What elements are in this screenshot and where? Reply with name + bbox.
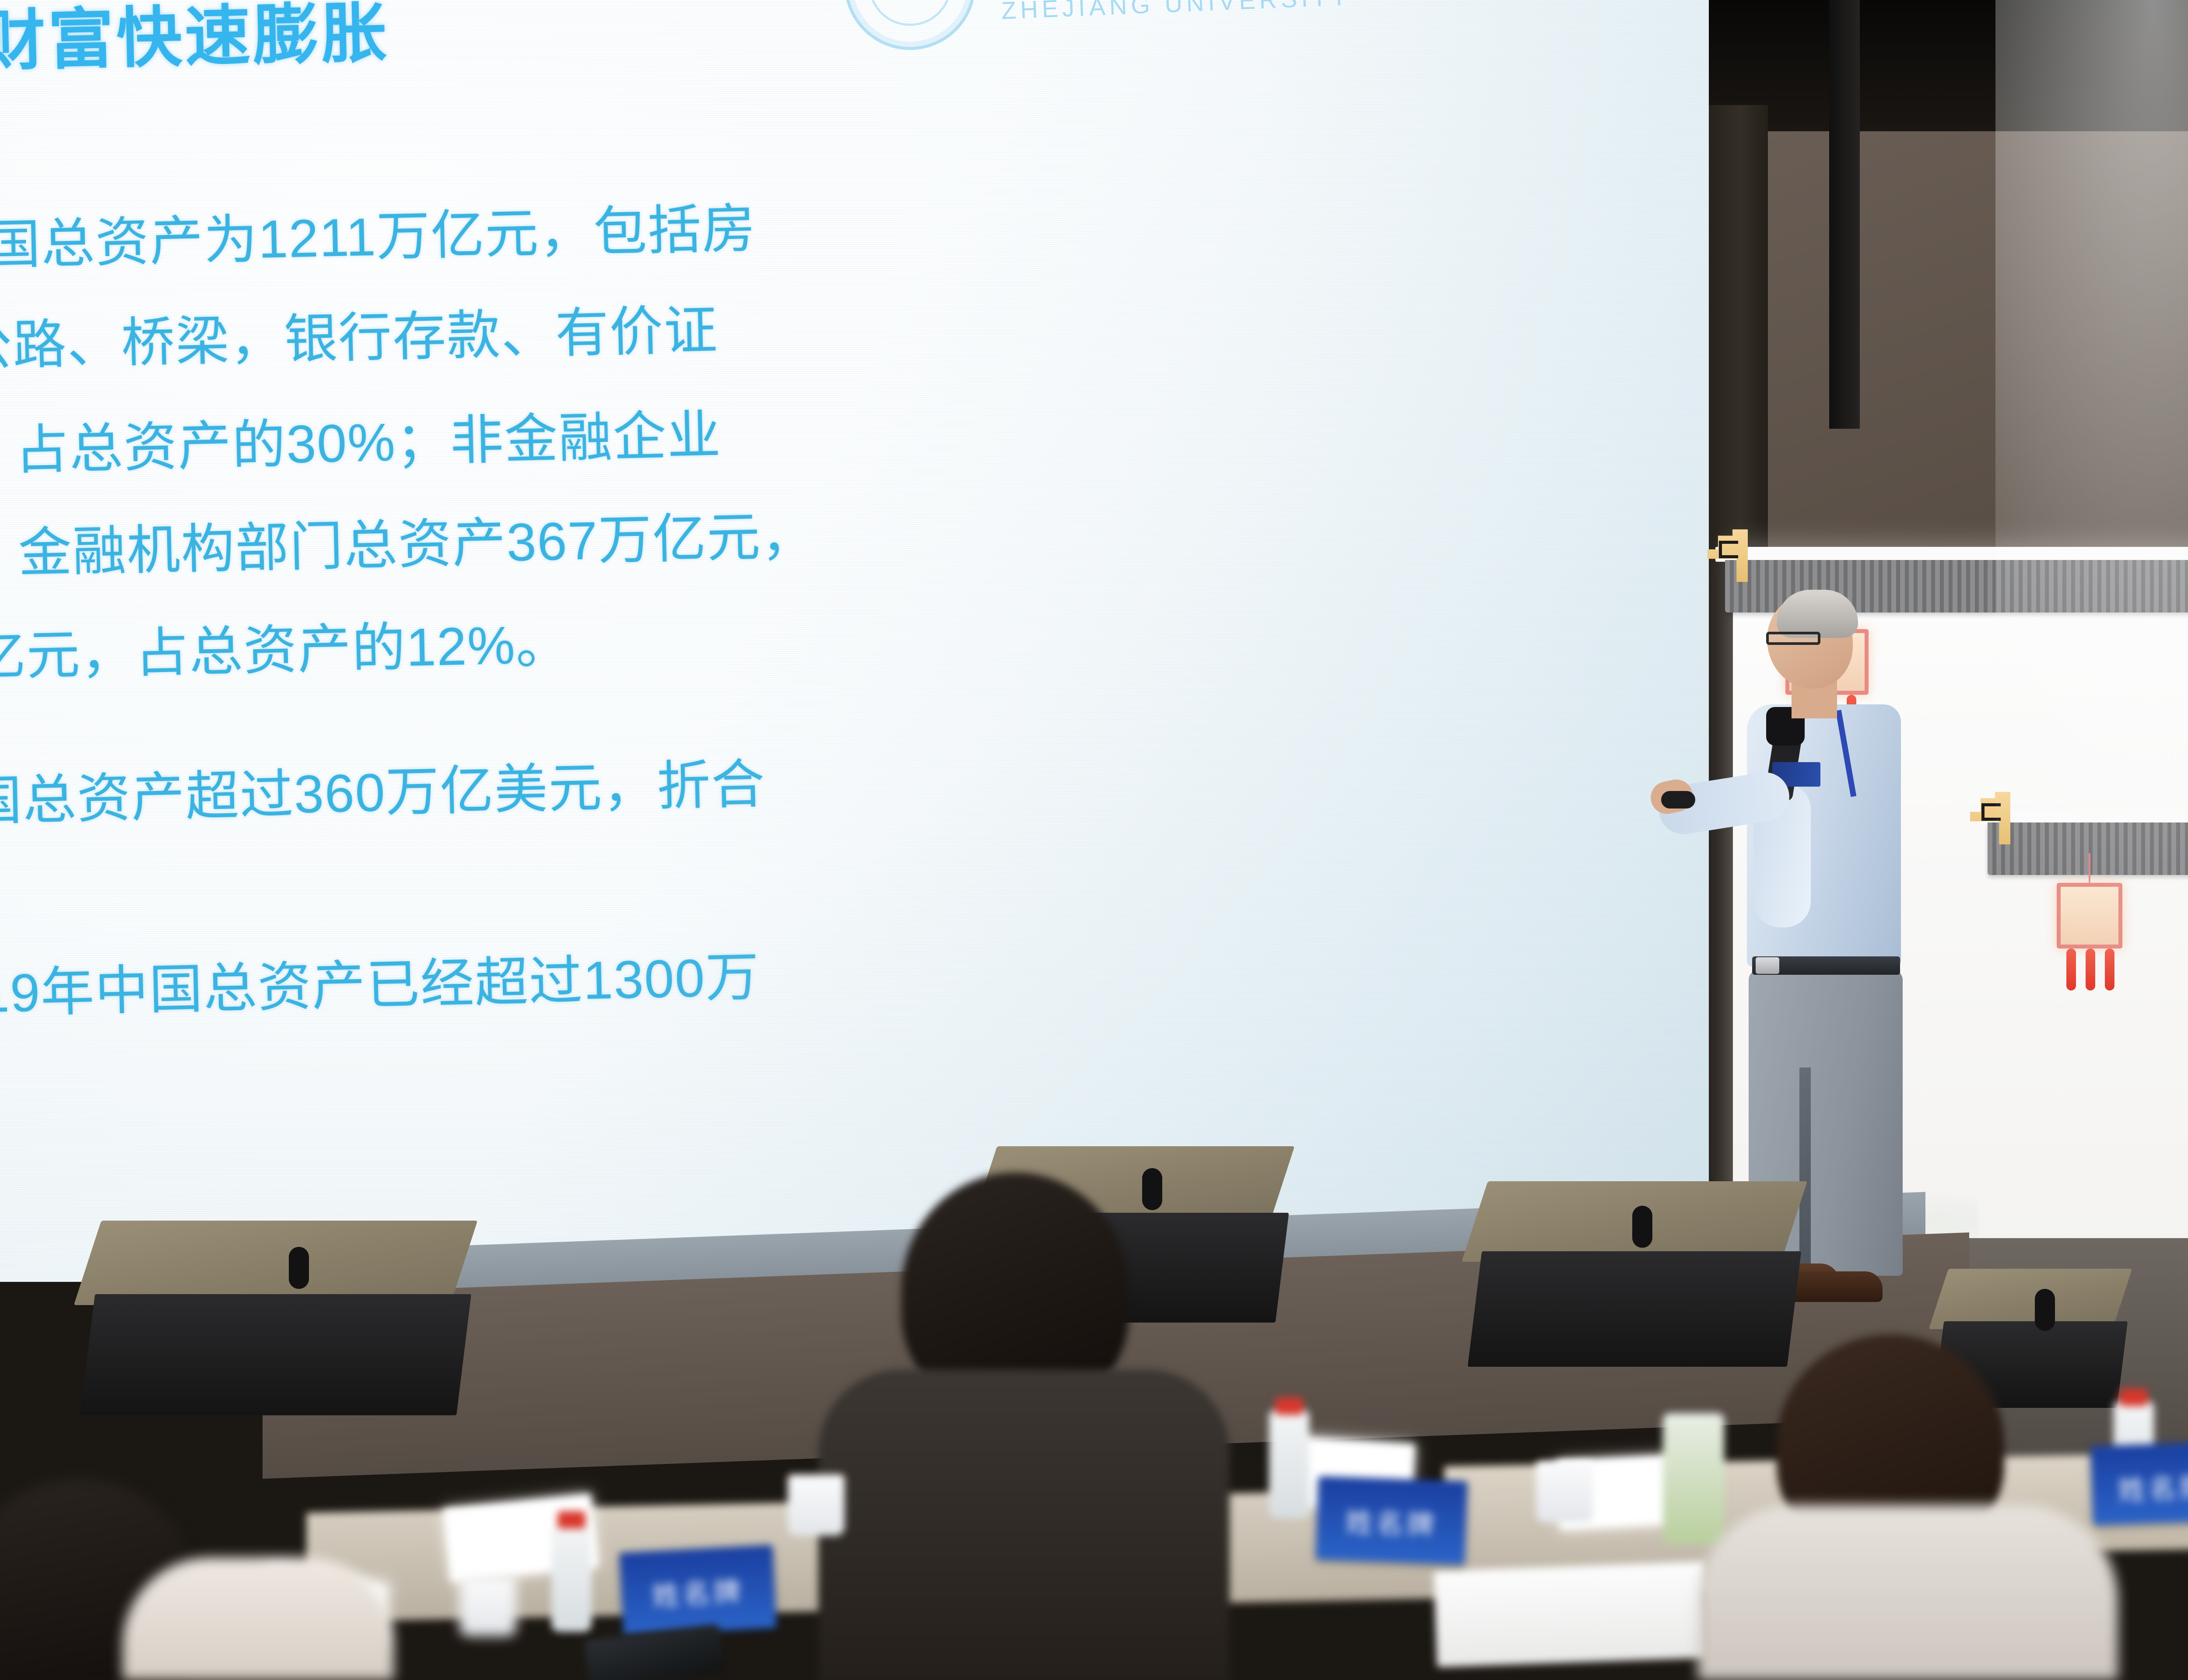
tea-cup — [1663, 1413, 1724, 1544]
monitor-handle-slot — [1632, 1206, 1652, 1248]
logo-english-line2: ZHEJIANG UNIVERSITY — [1001, 0, 1352, 25]
projection-screen: 管理学院 SCHOOL OF MANAGEMENT ZHEJIANG UNIVE… — [0, 0, 1709, 1282]
nameplate-label: 姓名牌 — [621, 1568, 775, 1615]
monitor-grille — [80, 1294, 471, 1415]
speaker-shoe-right — [1790, 1271, 1883, 1302]
slide-body-line-6: 年美国总资产超过360万亿美元，折合 — [0, 741, 766, 838]
presentation-clicker — [1661, 791, 1695, 808]
slide-content: 管理学院 SCHOOL OF MANAGEMENT ZHEJIANG UNIVE… — [0, 0, 1709, 1281]
lantern-tassel — [2086, 948, 2095, 990]
lantern-tassel — [2105, 948, 2114, 990]
audience-shoulders — [818, 1369, 1230, 1680]
water-bottle — [551, 1522, 592, 1632]
hanging-lantern-lower — [2057, 853, 2122, 971]
roof-eave — [1715, 547, 2188, 562]
slide-body-line-1: 6年中国总资产为1211万亿元，包括房 — [0, 185, 757, 282]
slide-body-line-4: 28%；金融机构部门总资产367万亿元， — [0, 493, 816, 591]
zju-logo: 管理学院 SCHOOL OF MANAGEMENT ZHEJIANG UNIVE… — [833, 0, 1385, 66]
monitor-handle-slot — [1142, 1168, 1162, 1210]
monitor-handle-slot — [2035, 1289, 2055, 1331]
audience-nameplate: 姓名牌 — [2090, 1441, 2188, 1525]
audience-shoulders — [123, 1557, 394, 1680]
speaker-hair — [1777, 590, 1858, 638]
audience-nameplate: 姓名牌 — [1316, 1476, 1467, 1564]
slide-body-line-5: 46万亿元，占总资产的12%。 — [0, 601, 571, 694]
lantern-tassel — [2066, 948, 2076, 990]
slide-body-line-2: 路、公路、桥梁，银行存款、有价证 — [0, 287, 719, 383]
slide-title: 社会财富快速膨胀 — [0, 0, 390, 87]
nameplate-label: 姓名牌 — [1316, 1499, 1466, 1543]
ceiling-beam — [1829, 0, 1860, 429]
audience-nameplate: 姓名牌 — [619, 1545, 776, 1636]
monitor-grille — [1468, 1251, 1801, 1367]
paper-cup — [459, 1575, 516, 1636]
audience-shoulders — [1698, 1505, 2118, 1680]
bottle-cap — [2120, 1389, 2148, 1406]
meander-pattern-left-icon — [1981, 803, 2001, 821]
slide-body-line-7: ，2019年中国总资产已经超过1300万 — [0, 934, 761, 1031]
nameplate-label: 姓名牌 — [2091, 1464, 2188, 1508]
lantern-body — [2057, 883, 2122, 948]
meander-pattern-left-icon — [1719, 541, 1738, 558]
eyeglasses-icon — [1766, 632, 1820, 645]
speaker-leg-separation — [1799, 1067, 1811, 1273]
paper-cup — [788, 1474, 845, 1536]
smartphone — [584, 1624, 724, 1680]
document-paper — [1434, 1561, 1708, 1667]
speaker-belt-buckle — [1756, 957, 1779, 974]
stage-monitor-speaker — [1475, 1181, 1794, 1356]
slide-body-line-3: 亿元，占总资产的30%；非金融企业 — [0, 392, 722, 488]
water-bottle — [1269, 1409, 1309, 1518]
monitor-handle-slot — [289, 1247, 309, 1289]
monitor-top-face — [74, 1221, 478, 1305]
monitor-top-face — [1929, 1269, 2132, 1329]
bottle-cap — [558, 1511, 586, 1529]
stage-monitor-speaker — [88, 1221, 464, 1404]
paper-cup — [1536, 1461, 1593, 1522]
bottle-cap — [1275, 1397, 1303, 1415]
conference-photo-scene: 管理学院 SCHOOL OF MANAGEMENT ZHEJIANG UNIVE… — [0, 0, 2188, 1680]
university-seal-icon — [842, 0, 978, 52]
lantern-cord — [2089, 853, 2090, 884]
